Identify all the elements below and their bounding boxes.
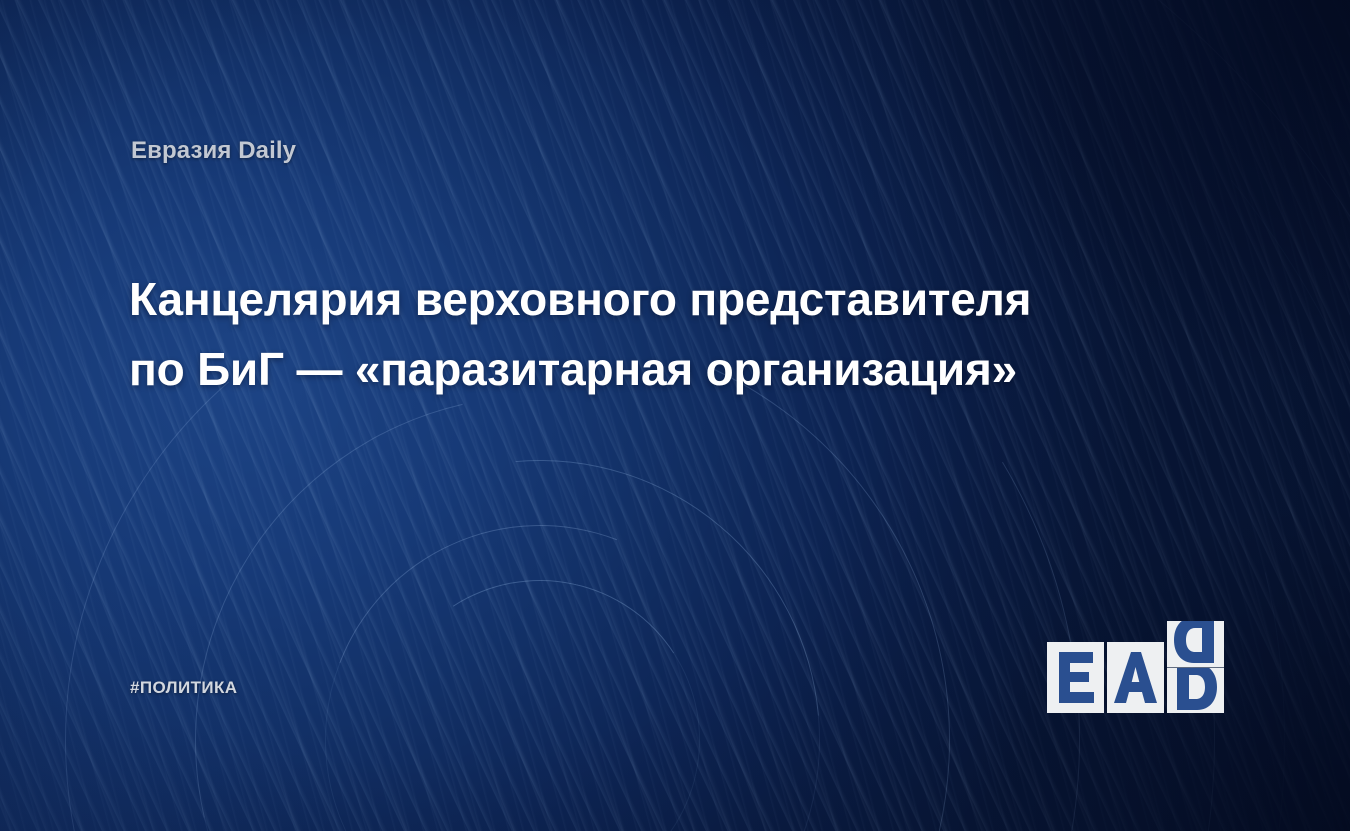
ead-logo[interactable] <box>1047 621 1225 713</box>
logo-tile-e <box>1047 642 1104 713</box>
logo-tile-d-lower <box>1167 668 1224 713</box>
category-hashtag: #ПОЛИТИКА <box>130 678 237 698</box>
letter-d-glyph <box>1167 668 1224 713</box>
headline-line-1: Канцелярия верховного представителя <box>129 265 1209 335</box>
letter-e-glyph <box>1047 642 1104 713</box>
news-share-card: Евразия Daily Канцелярия верховного пред… <box>0 0 1350 831</box>
logo-tile-d-upper <box>1167 621 1224 667</box>
letter-d-rotated-glyph <box>1167 621 1224 667</box>
letter-a-glyph <box>1107 642 1164 713</box>
headline-line-2: по БиГ — «паразитарная организация» <box>129 335 1209 405</box>
logo-tile-a <box>1107 642 1164 713</box>
page-title: Канцелярия верховного представителя по Б… <box>129 265 1209 405</box>
brand-label: Евразия Daily <box>131 137 296 165</box>
